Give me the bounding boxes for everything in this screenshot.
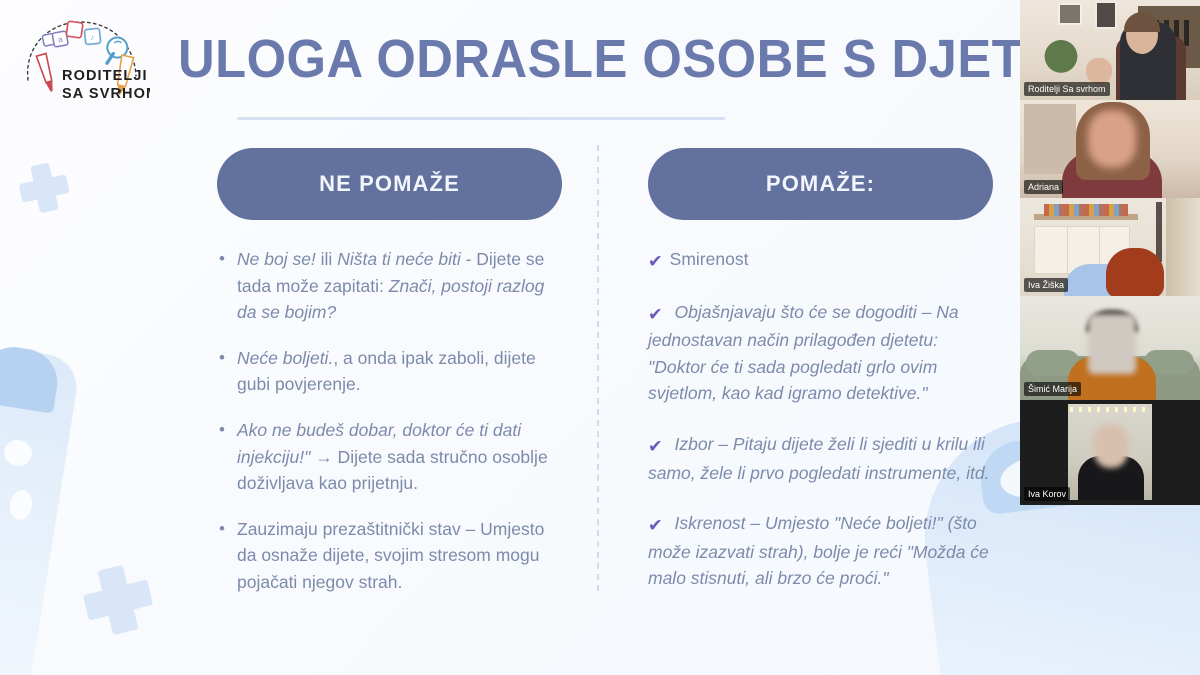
decorative-thermometer-cap [0,342,62,413]
check-icon: ✔ [648,248,663,275]
text-run: Smirenost [670,249,749,269]
participant-tile[interactable]: Roditelji Sa svrhom [1020,0,1200,100]
decorative-thermometer-notch [8,488,34,521]
wall-picture [1058,3,1082,25]
column-heading-pomaze: POMAŽE: [648,148,993,220]
curtain [1166,198,1200,296]
italic-text-run: Ništa ti neće biti [337,249,461,269]
text-run: Zauzimaju prezaštitnički stav – Umjesto … [237,519,544,592]
bullet-icon: • [219,345,237,371]
italic-text-run: Objašnjavaju što će se dogoditi – Na jed… [648,302,959,404]
bullet-icon: • [219,417,237,443]
list-item-text: Izbor – Pitaju dijete želi li sjediti u … [648,434,989,483]
italic-text-run: Iskrenost – Umjesto "Neće boljeti!" (što… [648,513,989,588]
list-pomaze: ✔Smirenost✔ Objašnjavaju što će se dogod… [648,246,993,592]
decorative-thermometer-notch [2,438,34,468]
text-run: ili [316,249,337,269]
list-item-text: Objašnjavaju što će se dogoditi – Na jed… [648,302,959,404]
logo-line1: RODITELJI [62,68,148,84]
check-icon: ✔ [648,433,663,460]
list-item: • Ne boj se! ili Ništa ti neće biti - Di… [217,246,562,326]
list-item-text: Ako ne budeš dobar, doktor će ti dati in… [237,417,562,497]
italic-text-run: Izbor – Pitaju dijete želi li sjediti u … [648,434,989,483]
italic-text-run: Neće boljeti. [237,348,333,368]
italic-text-run: Ne boj se! [237,249,316,269]
list-item: ✔ Objašnjavaju što će se dogoditi – Na j… [648,299,993,407]
participant-tile[interactable]: Iva Žiška [1020,198,1200,296]
list-item-text: Neće boljeti., a onda ipak zaboli, dijet… [237,345,562,398]
column-divider [597,145,599,595]
bullet-icon: • [219,516,237,542]
column-heading-ne-pomaze: NE POMAŽE [217,148,562,220]
title-underline [237,117,725,120]
blurred-face [1088,110,1136,168]
pole [1156,202,1162,262]
list-item: • Neće boljeti., a onda ipak zaboli, dij… [217,345,562,398]
brand-logo: a ♪ RODITELJI SA SVRHOM [10,8,150,108]
page-title: ULOGA ODRASLE OSOBE S DJETETOM [178,28,968,90]
list-item-text: Zauzimaju prezaštitnički stav – Umjesto … [237,516,562,596]
list-item: •Zauzimaju prezaštitnički stav – Umjesto… [217,516,562,596]
logo-line2: SA SVRHOM [62,86,150,102]
person-hair [1106,248,1164,296]
list-item: ✔ Iskrenost – Umjesto "Neće boljeti!" (š… [648,510,993,592]
participant-tile[interactable]: Iva Korov [1020,400,1200,505]
decorative-thermometer-shape [0,348,81,675]
logo-artwork-icon: a ♪ RODITELJI SA SVRHOM [10,8,150,108]
participant-name: Šimić Marija [1024,382,1081,396]
blurred-face [1094,424,1128,468]
participant-name: Iva Korov [1024,487,1070,501]
blurred-face [1088,314,1136,374]
check-icon: ✔ [648,301,663,328]
string-lights [1070,407,1150,412]
list-item-text: Smirenost [670,249,749,269]
column-pomaze: POMAŽE: ✔Smirenost✔ Objašnjavaju što će … [648,148,993,616]
wall-picture [1095,1,1117,29]
plant [1038,38,1084,84]
list-item: ✔Smirenost [648,246,993,275]
list-item-text: Ne boj se! ili Ništa ti neće biti - Dije… [237,246,562,326]
list-item: ✔ Izbor – Pitaju dijete želi li sjediti … [648,431,993,486]
participant-name: Adriana [1024,180,1063,194]
participant-name: Iva Žiška [1024,278,1068,292]
list-item-text: Iskrenost – Umjesto "Neće boljeti!" (što… [648,513,989,588]
list-item: •Ako ne budeš dobar, doktor će ti dati i… [217,417,562,497]
participant-name: Roditelji Sa svrhom [1024,82,1110,96]
check-icon: ✔ [648,512,663,539]
participant-tile[interactable]: Adriana [1020,100,1200,198]
list-ne-pomaze: • Ne boj se! ili Ništa ti neće biti - Di… [217,246,562,596]
participant-tile[interactable]: Šimić Marija [1020,296,1200,400]
person-hand [1086,58,1112,84]
bullet-icon: • [219,246,237,272]
shelf-items [1044,204,1128,216]
presentation-slide: a ♪ RODITELJI SA SVRHOM ULOGA O [0,0,1200,675]
video-participant-strip[interactable]: Roditelji Sa svrhom Adriana Iva Žiška [1020,0,1200,505]
column-ne-pomaze: NE POMAŽE • Ne boj se! ili Ništa ti neće… [217,148,562,615]
